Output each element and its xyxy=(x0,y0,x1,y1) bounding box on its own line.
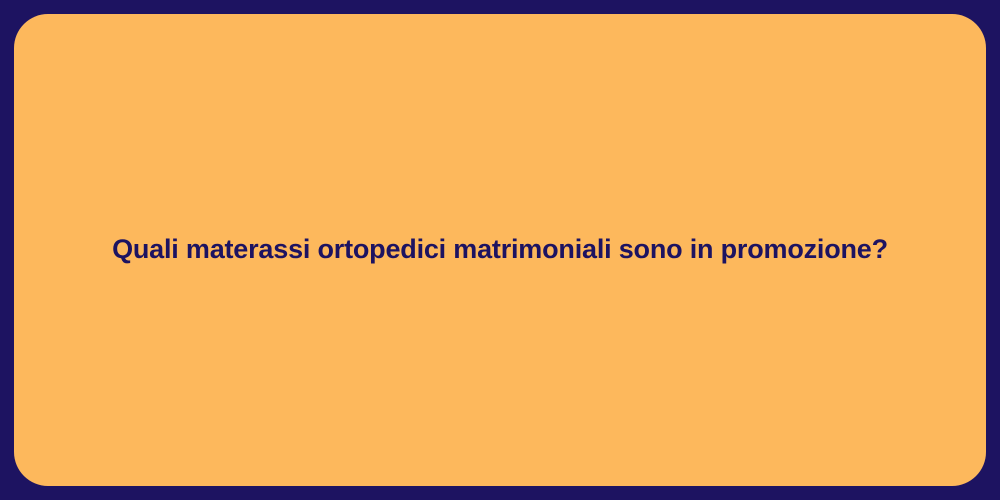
page-title: Quali materassi ortopedici matrimoniali … xyxy=(112,233,888,267)
outer-frame: Quali materassi ortopedici matrimoniali … xyxy=(0,0,1000,500)
screenshot-root: Quali materassi ortopedici matrimoniali … xyxy=(0,0,1000,500)
question-card: Quali materassi ortopedici matrimoniali … xyxy=(14,14,986,486)
